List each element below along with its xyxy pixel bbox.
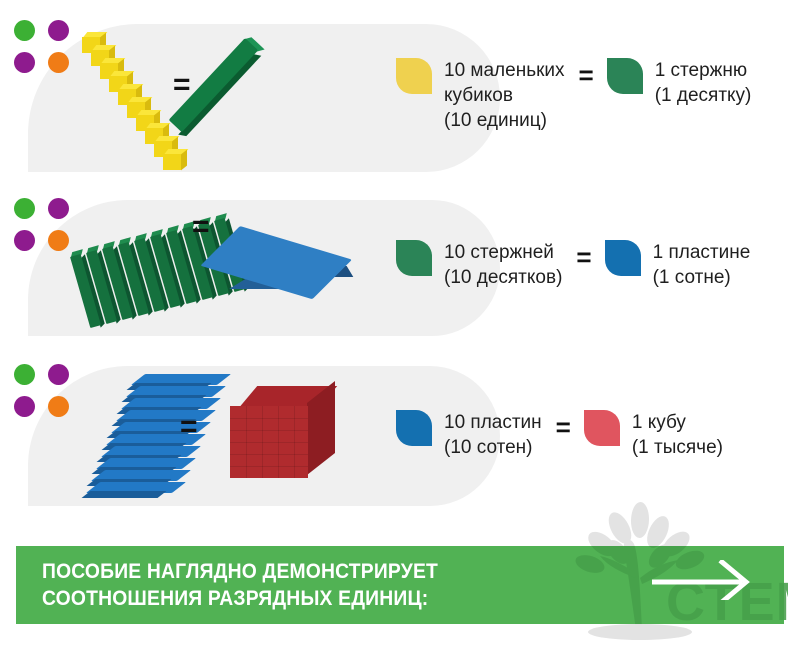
legend-right-label: 1 пластине (1 сотне)	[653, 240, 751, 290]
chip-green-icon	[607, 58, 643, 94]
decorative-dots-cluster	[14, 20, 76, 72]
dot-purple-bottom-icon	[14, 230, 35, 251]
dot-green-icon	[14, 198, 35, 219]
legend-left-group: 10 пластин (10 сотен)	[396, 410, 542, 460]
legend-left-label: 10 маленьких кубиков (10 единиц)	[444, 58, 565, 133]
equals-sign-illustration: =	[180, 412, 197, 442]
legend-left-label: 10 стержней (10 десятков)	[444, 240, 562, 290]
dot-orange-icon	[48, 396, 69, 417]
dot-purple-bottom-icon	[14, 396, 35, 417]
arrow-right-icon	[650, 560, 760, 600]
legend-rods-to-flat: 10 стержней (10 десятков) = 1 пластине (…	[396, 240, 750, 290]
infographic-stage: =	[0, 0, 800, 640]
decorative-dots-cluster	[14, 364, 76, 416]
legend-flats-to-cube: 10 пластин (10 сотен) = 1 кубу (1 тысяче…	[396, 410, 723, 460]
blue-flat-icon	[240, 226, 358, 304]
legend-left-group: 10 стержней (10 десятков)	[396, 240, 562, 290]
equals-sign-illustration: =	[173, 70, 190, 100]
decorative-dots-cluster	[14, 198, 76, 250]
dot-purple-bottom-icon	[14, 52, 35, 73]
illustration-units-to-rod: =	[40, 8, 380, 180]
chip-green-icon	[396, 240, 432, 276]
dot-purple-top-icon	[48, 20, 69, 41]
legend-right-group: 1 кубу (1 тысяче)	[584, 410, 723, 460]
chip-blue-icon	[396, 410, 432, 446]
dot-orange-icon	[48, 52, 69, 73]
equals-sign-illustration: =	[192, 212, 209, 242]
chip-yellow-icon	[396, 58, 432, 94]
chip-red-icon	[584, 410, 620, 446]
legend-right-group: 1 пластине (1 сотне)	[605, 240, 751, 290]
legend-right-label: 1 стержню (1 десятку)	[655, 58, 752, 108]
equals-sign-legend: =	[576, 240, 590, 274]
legend-units-to-rod: 10 маленьких кубиков (10 единиц) = 1 сте…	[396, 58, 751, 133]
illustration-rods-to-flat: =	[40, 186, 380, 344]
dot-green-icon	[14, 364, 35, 385]
legend-right-label: 1 кубу (1 тысяче)	[632, 410, 723, 460]
legend-left-label: 10 пластин (10 сотен)	[444, 410, 542, 460]
footer-banner-text: ПОСОБИЕ НАГЛЯДНО ДЕМОНСТРИРУЕТ СООТНОШЕН…	[42, 558, 438, 612]
legend-right-group: 1 стержню (1 десятку)	[607, 58, 752, 108]
dot-purple-top-icon	[48, 198, 69, 219]
red-thousand-cube-icon	[230, 386, 358, 490]
dot-orange-icon	[48, 230, 69, 251]
dot-purple-top-icon	[48, 364, 69, 385]
legend-left-group: 10 маленьких кубиков (10 единиц)	[396, 58, 565, 133]
chip-blue-icon	[605, 240, 641, 276]
dot-green-icon	[14, 20, 35, 41]
equals-sign-legend: =	[579, 58, 593, 92]
equals-sign-legend: =	[556, 410, 570, 444]
illustration-flats-to-cube: =	[40, 352, 380, 514]
